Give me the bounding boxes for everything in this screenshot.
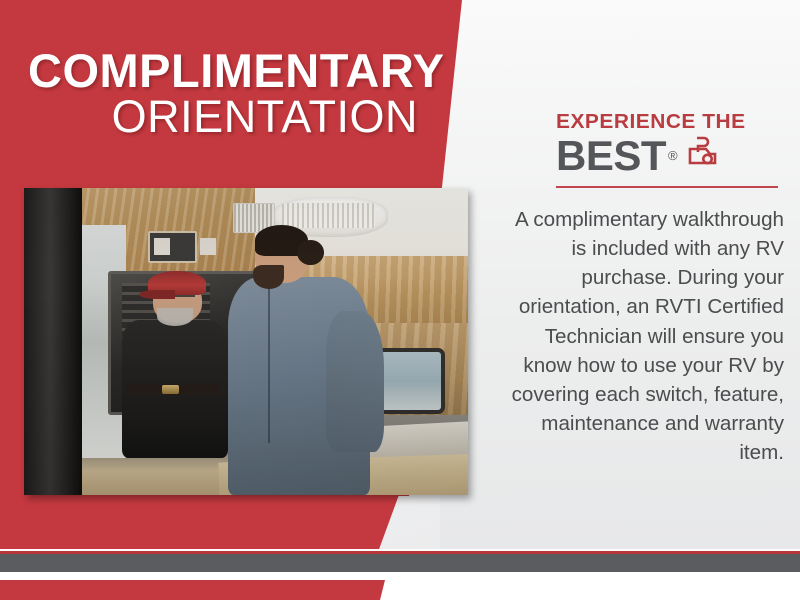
promo-banner: COMPLIMENTARY ORIENTATION — [0, 0, 800, 600]
logo-wordmark: BEST — [556, 137, 666, 176]
photo-inner — [24, 188, 468, 495]
logo-wordmark-row: BEST ® — [556, 135, 780, 176]
band-gray — [0, 554, 800, 572]
brand-logo: EXPERIENCE THE BEST ® — [556, 112, 780, 176]
band-white-lower — [0, 572, 800, 580]
headline-line-1: COMPLIMENTARY — [28, 48, 448, 94]
band-red-lower — [0, 580, 800, 600]
page-title: COMPLIMENTARY ORIENTATION — [28, 48, 448, 140]
rv-motorhome-icon — [684, 135, 718, 174]
headline-line-2: ORIENTATION — [28, 94, 448, 140]
orientation-photo — [24, 188, 468, 495]
photo-vignette — [24, 188, 468, 495]
logo-tagline: EXPERIENCE THE — [556, 112, 784, 133]
logo-divider — [556, 186, 778, 188]
registered-trademark-symbol: ® — [668, 149, 678, 162]
description-text: A complimentary walkthrough is included … — [500, 205, 784, 467]
